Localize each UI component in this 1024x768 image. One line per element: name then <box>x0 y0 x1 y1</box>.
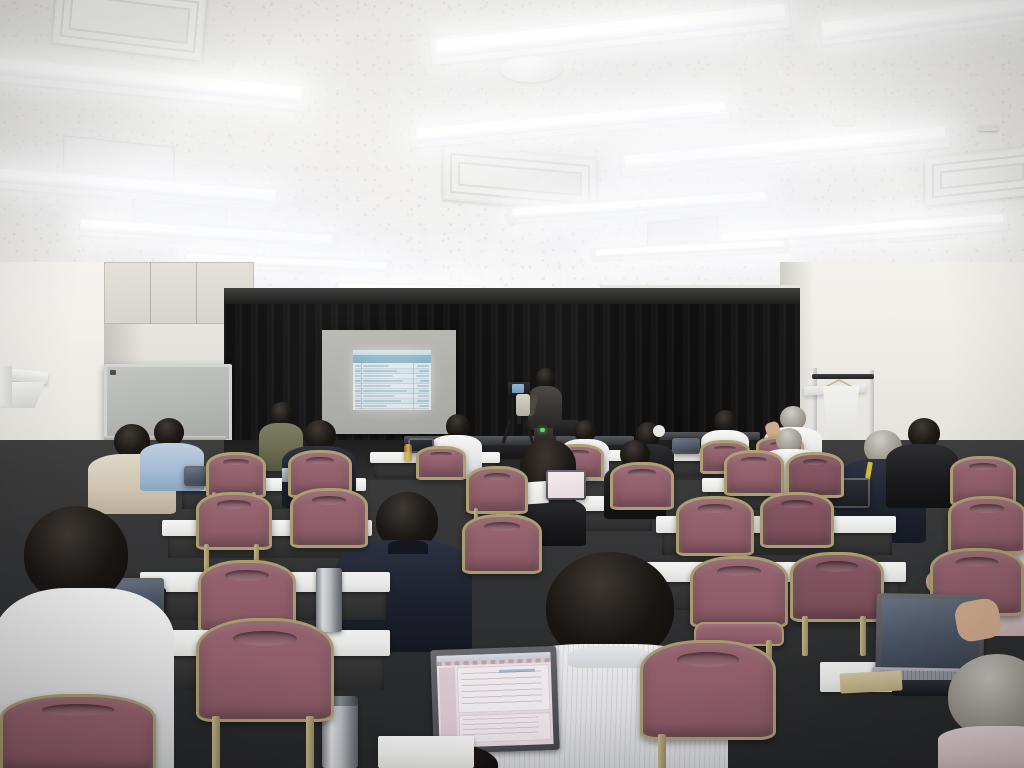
chair-back <box>676 496 754 556</box>
whiteboard-magnet <box>110 370 116 375</box>
chair-back-notch <box>42 704 114 716</box>
chair-back-notch <box>312 496 347 505</box>
hair-clip <box>653 425 665 437</box>
chair-leg <box>658 734 666 768</box>
chair-back <box>0 694 156 768</box>
notebook-tan <box>840 670 903 693</box>
torso <box>938 726 1024 768</box>
tea-bottle-row1 <box>404 444 412 462</box>
chair-back-notch <box>628 469 656 476</box>
wall-bracket-plate <box>0 366 12 406</box>
chair-back-notch <box>430 452 451 456</box>
laptop-row1-right-screen <box>674 440 698 452</box>
chair-back <box>610 462 674 510</box>
chair-back <box>760 492 834 548</box>
laptop-foreground-center-screen[interactable] <box>436 652 553 748</box>
head <box>154 418 184 446</box>
chair-back-notch <box>306 457 334 464</box>
chair-back-notch <box>970 504 1005 512</box>
chair-back-notch <box>781 500 814 508</box>
chair-back-notch <box>217 500 251 508</box>
soffit-seam-1 <box>150 262 151 324</box>
presenter-head <box>536 368 555 388</box>
attendee-bottom-right-head <box>948 654 1024 768</box>
seminar-room-photo: Seminar room during a presentation <box>0 0 1024 768</box>
chair-back-notch <box>803 459 828 465</box>
table-foreground-strip <box>378 736 474 768</box>
chair-back-notch <box>956 557 998 567</box>
attendee-dark-jacket-back <box>886 418 958 504</box>
chair-back-notch <box>225 570 269 581</box>
chair-back <box>196 492 272 550</box>
chair-row3-b[interactable] <box>290 488 362 562</box>
chair-back <box>196 618 334 722</box>
stage-header-band <box>224 288 800 304</box>
soffit-seam-2 <box>196 262 197 324</box>
chair-front-far-left[interactable] <box>0 694 150 768</box>
chair-leg <box>802 616 808 656</box>
laptop-row2-mid-screen <box>548 472 584 498</box>
laptop-screen-sidebar <box>439 667 458 744</box>
coat-rack-bar <box>812 374 874 379</box>
chair-back <box>640 640 776 740</box>
indicator-light-green <box>540 428 545 432</box>
chair-back-notch <box>698 504 733 513</box>
chair-back <box>724 450 784 496</box>
chair-front-left[interactable] <box>196 618 328 768</box>
chair-leg <box>212 716 220 768</box>
chair-leg <box>306 716 314 768</box>
presenter-bag <box>516 394 530 416</box>
laptop-screen-doc-lines <box>461 670 542 709</box>
chair-back <box>466 466 528 514</box>
chair-back <box>290 488 368 548</box>
chair-back-notch <box>741 457 767 463</box>
ceiling-glow <box>0 0 1024 300</box>
chair-row1-a[interactable] <box>416 446 460 482</box>
chair-back <box>790 552 884 622</box>
chair-leg <box>860 616 866 656</box>
laptop-screen-lower-lines <box>463 716 540 739</box>
chair-back-notch <box>484 473 511 480</box>
chair-back-notch <box>223 459 249 465</box>
chair-back-notch <box>677 652 739 667</box>
chair-back-notch <box>816 561 858 571</box>
chair-back <box>416 446 466 480</box>
chair-back-notch <box>484 522 520 531</box>
camera-lcd-screen <box>512 384 524 393</box>
chair-row4-c[interactable] <box>790 552 878 644</box>
chair-back-notch <box>969 463 998 470</box>
chair-row2-d[interactable] <box>610 462 668 520</box>
chair-back-notch <box>233 631 296 647</box>
chair-back <box>948 496 1024 554</box>
suit-collar <box>388 540 428 554</box>
shirt-collar <box>568 646 650 668</box>
chair-front-right[interactable] <box>640 640 770 768</box>
chair-row3-a[interactable] <box>196 492 266 564</box>
